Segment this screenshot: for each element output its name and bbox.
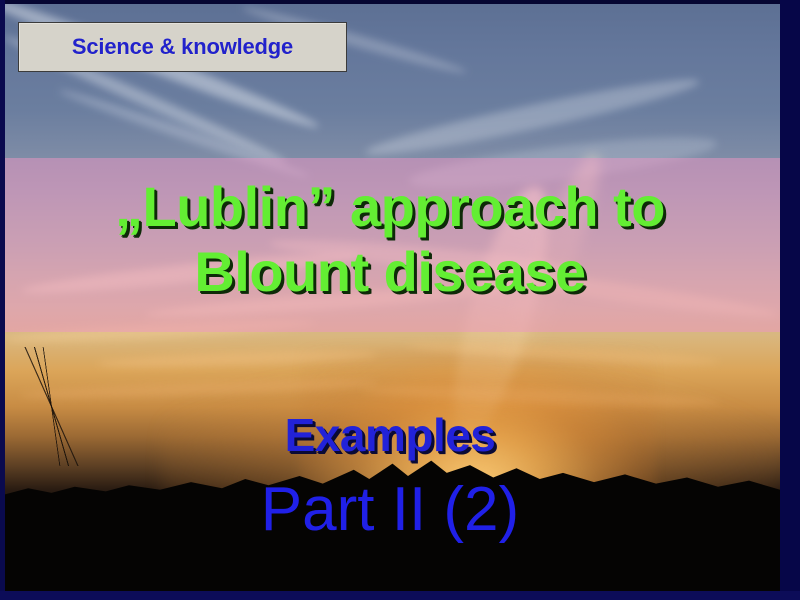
subtitle-part: Part II (2) — [0, 474, 780, 545]
presentation-slide: Science & knowledge „Lublin” approach to… — [0, 0, 800, 600]
slide-title: „Lublin” approach to Blount disease — [0, 178, 780, 300]
subtitle-examples: Examples — [0, 408, 780, 462]
category-tag-box: Science & knowledge — [18, 22, 347, 72]
title-line-2: Blount disease — [0, 243, 780, 300]
slide-border-bottom — [0, 591, 800, 600]
category-tag-label: Science & knowledge — [72, 34, 293, 60]
title-line-1: „Lublin” approach to — [0, 178, 780, 235]
slide-border-top — [0, 0, 800, 4]
slide-border-right — [780, 0, 800, 600]
